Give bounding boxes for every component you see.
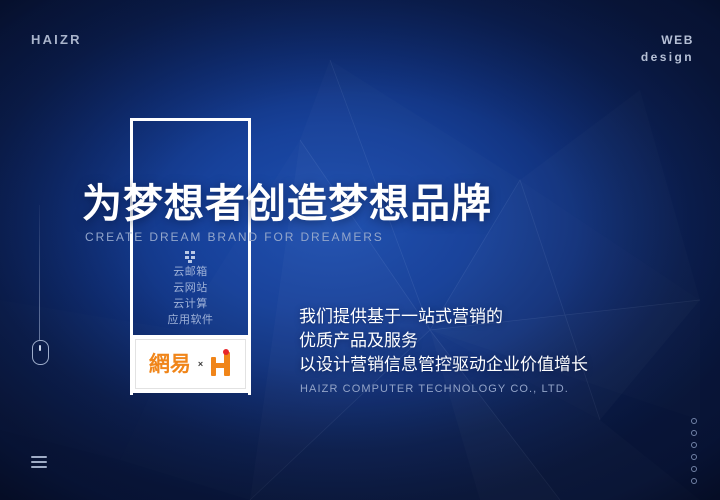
mouse-scroll-icon[interactable] xyxy=(32,340,49,365)
slide-canvas: HAIZR WEB design 云邮箱 云网站 云计算 应用软件 網易 × xyxy=(0,0,720,500)
partner-logo-box: 網易 × xyxy=(131,335,250,393)
body-copy-line: 优质产品及服务 xyxy=(299,329,588,353)
page-subtitle: CREATE DREAM BRAND FOR DREAMERS xyxy=(85,230,384,244)
times-symbol: × xyxy=(198,359,203,369)
header-tagline: WEB design xyxy=(641,32,694,66)
body-copy-line: 以设计营销信息管控驱动企业价值增长 xyxy=(299,353,588,377)
scroll-rail-line xyxy=(39,205,40,340)
pagination-dot[interactable] xyxy=(691,430,697,436)
company-name: HAIZR COMPUTER TECHNOLOGY CO., LTD. xyxy=(300,383,569,395)
background-polygons xyxy=(0,0,720,500)
body-copy-line: 我们提供基于一站式营销的 xyxy=(299,305,588,329)
pagination-dot[interactable] xyxy=(691,466,697,472)
header-tagline-line1: WEB xyxy=(641,32,694,49)
partner-logo-text: 網易 xyxy=(149,354,191,375)
pagination-dot[interactable] xyxy=(691,418,697,424)
header-tagline-line2: design xyxy=(641,49,694,66)
page-title: 为梦想者创造梦想品牌 xyxy=(82,182,492,226)
haizr-h-mark-icon xyxy=(210,352,232,376)
feature-item[interactable]: 云邮箱 xyxy=(130,264,251,280)
feature-item[interactable]: 应用软件 xyxy=(130,312,251,328)
pagination-dot[interactable] xyxy=(691,442,697,448)
background-vignette xyxy=(0,0,720,500)
pagination-dot[interactable] xyxy=(691,454,697,460)
hamburger-menu-icon[interactable] xyxy=(31,456,47,471)
feature-item[interactable]: 云计算 xyxy=(130,296,251,312)
pagination-dots[interactable] xyxy=(691,418,697,490)
cluster-icon xyxy=(183,251,197,264)
feature-item[interactable]: 云网站 xyxy=(130,280,251,296)
logo-wordmark: HAIZR xyxy=(31,32,82,47)
pagination-dot[interactable] xyxy=(691,478,697,484)
body-copy: 我们提供基于一站式营销的 优质产品及服务 以设计营销信息管控驱动企业价值增长 xyxy=(299,305,588,377)
feature-list: 云邮箱 云网站 云计算 应用软件 xyxy=(130,264,251,328)
